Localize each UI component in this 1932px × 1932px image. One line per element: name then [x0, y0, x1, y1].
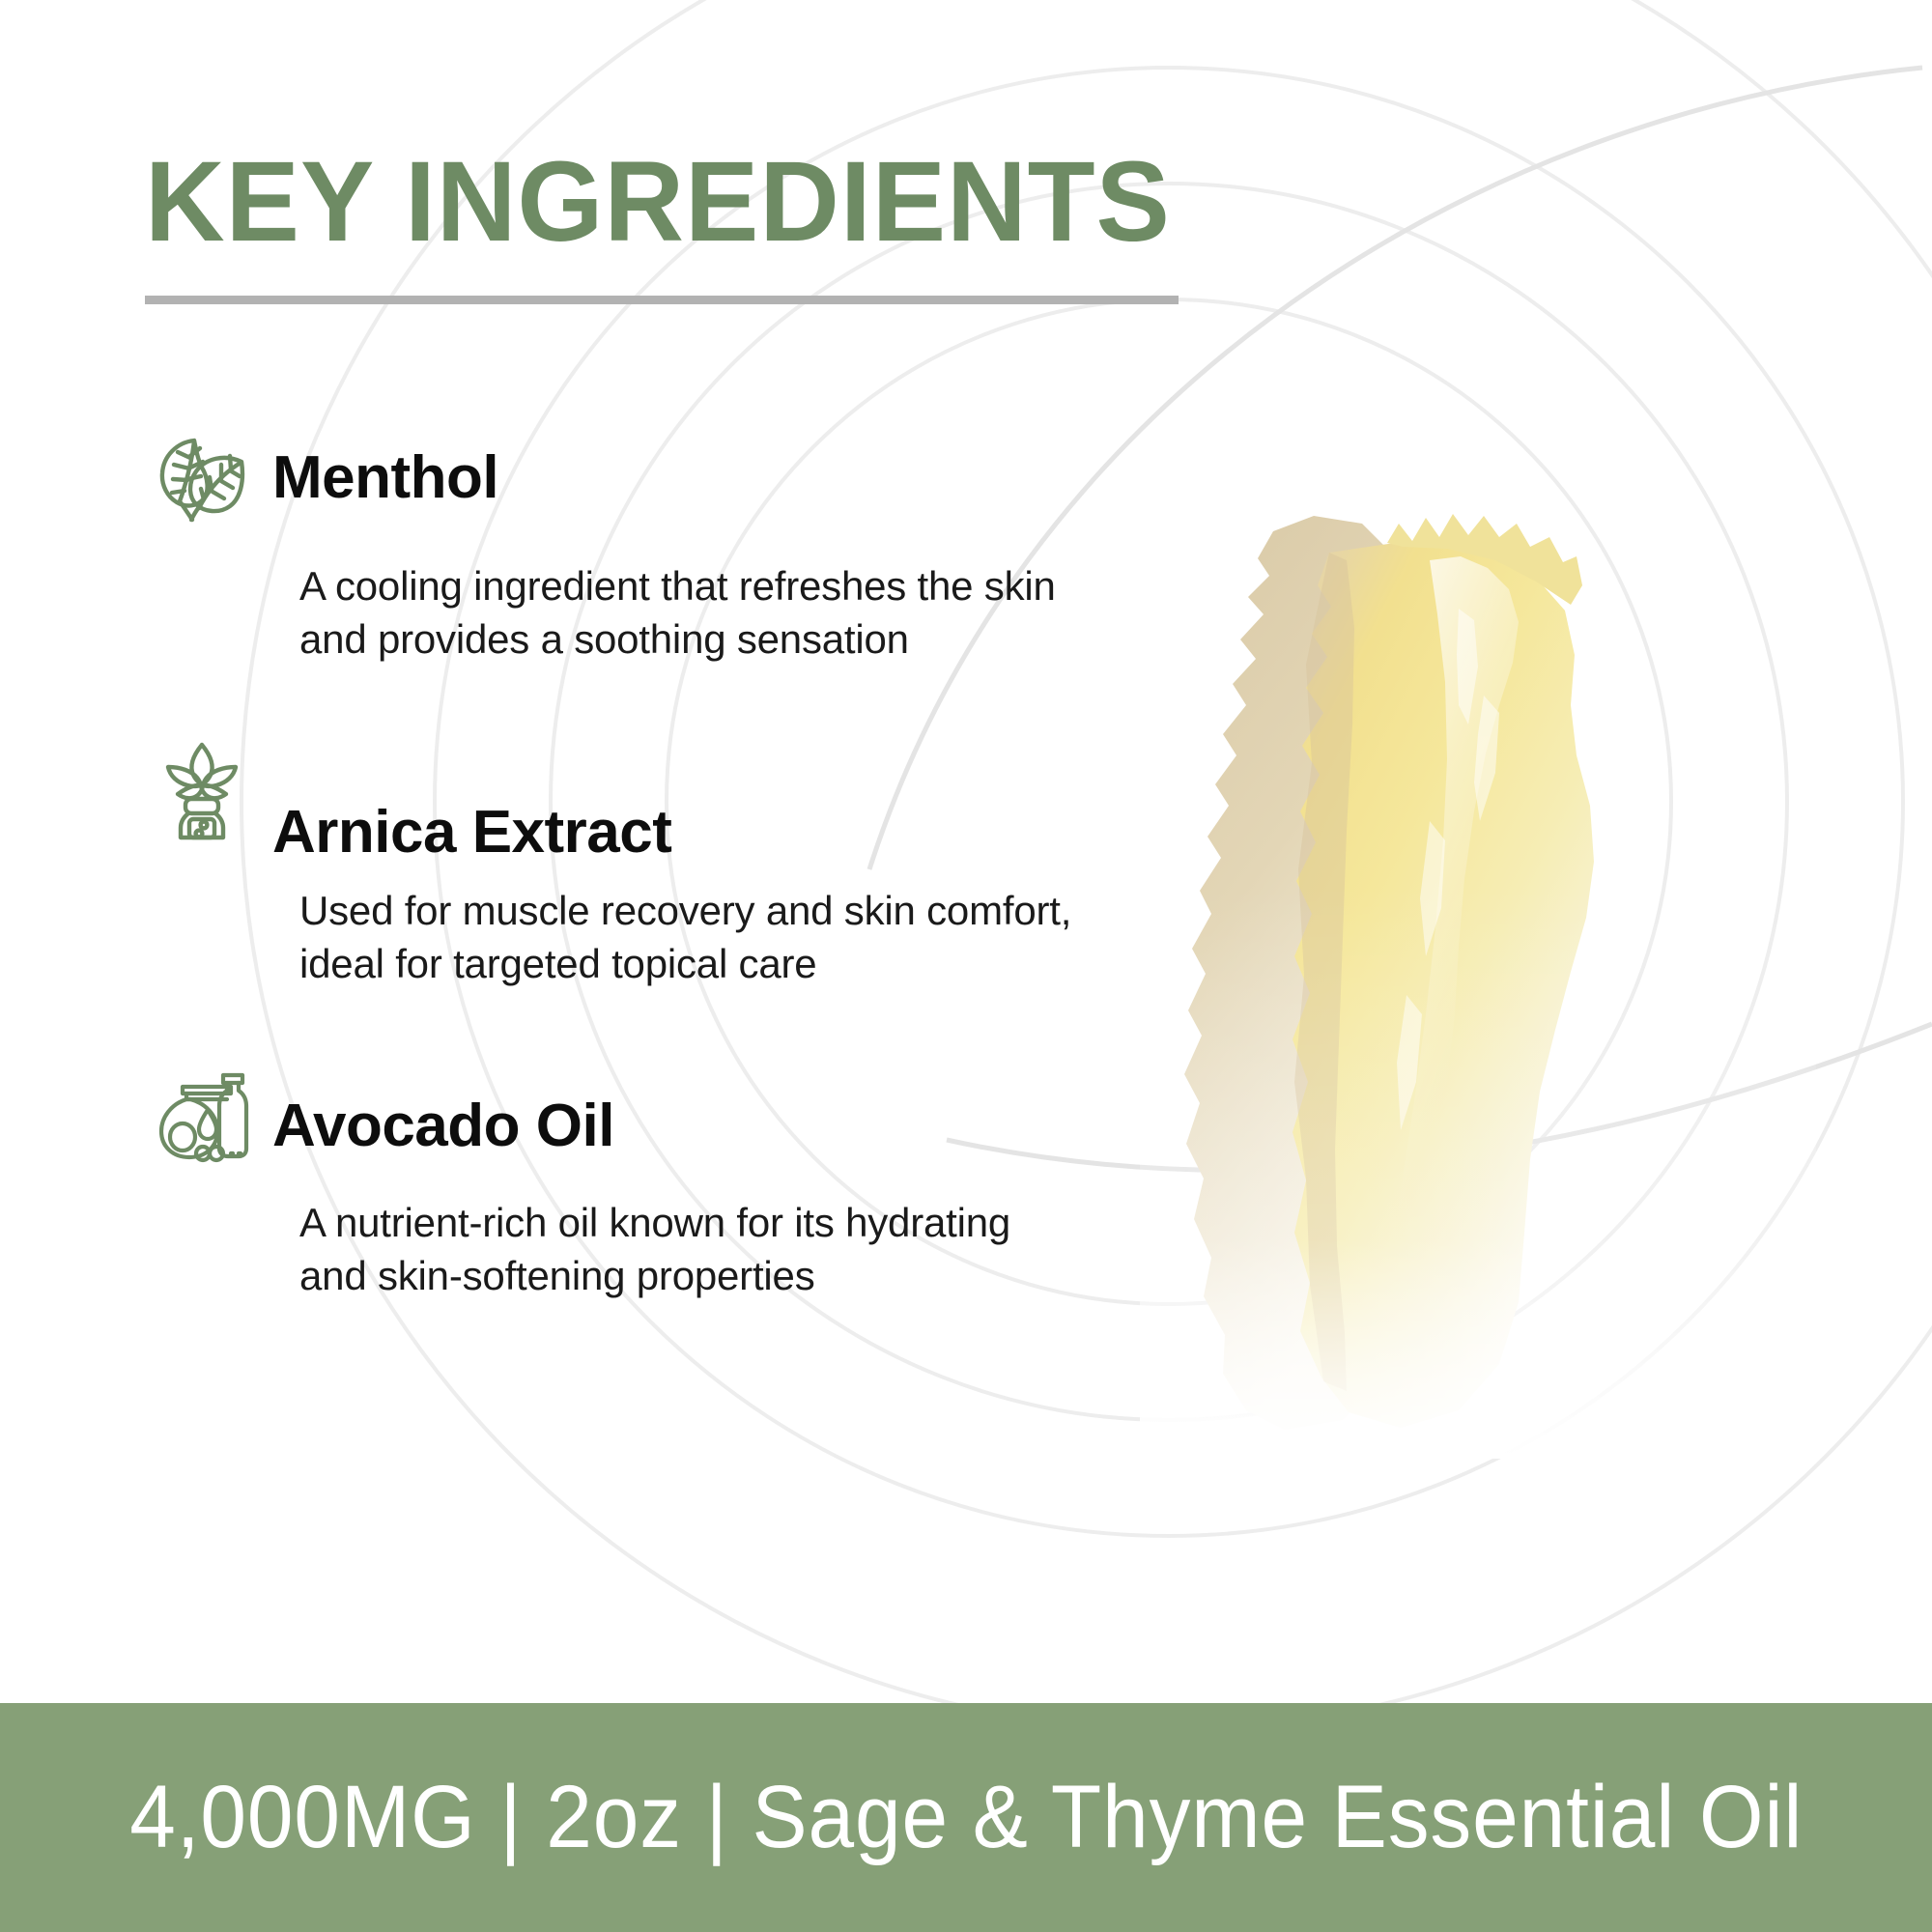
- ingredient-item-avocado-oil: Avocado Oil A nutrient-rich oil known fo…: [145, 1062, 1111, 1302]
- ingredient-name: Avocado Oil: [272, 1062, 614, 1157]
- page-title: KEY INGREDIENTS: [145, 145, 1194, 259]
- product-info-banner: 4,000MG | 2oz | Sage & Thyme Essential O…: [0, 1703, 1932, 1932]
- balm-swatch-image: [1140, 415, 1816, 1459]
- ingredient-description: Used for muscle recovery and skin comfor…: [299, 885, 1072, 990]
- header: KEY INGREDIENTS: [145, 145, 1227, 304]
- infographic-canvas: KEY INGREDIENTS: [0, 0, 1932, 1932]
- ingredient-description: A nutrient-rich oil known for its hydrat…: [299, 1197, 1072, 1302]
- ingredient-item-arnica-extract: Arnica Extract Used for muscle recovery …: [145, 737, 1111, 990]
- arnica-jar-icon: [145, 737, 259, 851]
- ingredient-name: Menthol: [272, 425, 498, 509]
- ingredient-list: Menthol A cooling ingredient that refres…: [145, 425, 1111, 1375]
- mint-leaves-icon: [145, 425, 259, 539]
- ingredient-description: A cooling ingredient that refreshes the …: [299, 560, 1072, 666]
- avocado-oil-icon: [145, 1062, 259, 1176]
- title-divider: [145, 296, 1179, 304]
- ingredient-item-menthol: Menthol A cooling ingredient that refres…: [145, 425, 1111, 666]
- product-info-text: 4,000MG | 2oz | Sage & Thyme Essential O…: [129, 1767, 1803, 1868]
- ingredient-name: Arnica Extract: [272, 737, 671, 864]
